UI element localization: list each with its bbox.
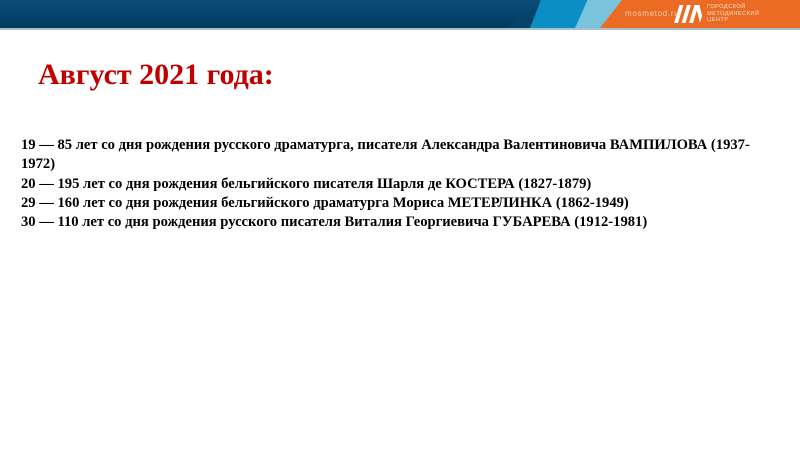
logo-text-line-3: ЦЕНТР xyxy=(707,17,729,23)
list-item: 20 — 195 лет со дня рождения бельгийског… xyxy=(21,175,781,194)
list-item: 30 — 110 лет со дня рождения русского пи… xyxy=(21,213,781,232)
page-header-banner: mosmetod.ru ГОРОДСКОЙ МЕТОДИЧЕСКИЙ ЦЕНТР xyxy=(0,0,800,28)
list-item: 19 — 85 лет со дня рождения русского дра… xyxy=(21,136,781,175)
header-divider-rule xyxy=(0,28,800,30)
organization-logo-text: ГОРОДСКОЙ МЕТОДИЧЕСКИЙ ЦЕНТР xyxy=(707,4,759,24)
anniversaries-list: 19 — 85 лет со дня рождения русского дра… xyxy=(21,136,781,232)
list-item: 29 — 160 лет со дня рождения бельгийског… xyxy=(21,194,781,213)
logo-text-line-1: ГОРОДСКОЙ xyxy=(707,4,746,10)
banner-stripe-navy xyxy=(0,0,545,28)
organization-logo: ГОРОДСКОЙ МЕТОДИЧЕСКИЙ ЦЕНТР xyxy=(673,4,759,24)
mosmetod-logo-icon xyxy=(673,4,703,24)
page-title: Август 2021 года: xyxy=(38,58,274,92)
logo-text-line-2: МЕТОДИЧЕСКИЙ xyxy=(707,11,759,17)
site-url-label: mosmetod.ru xyxy=(625,9,679,18)
